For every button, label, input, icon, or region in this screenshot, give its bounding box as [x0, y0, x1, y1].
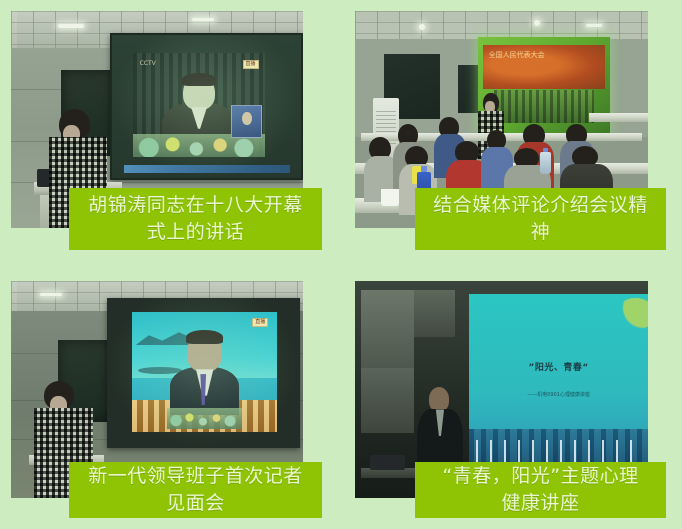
caption-line: 胡锦涛同志在十八大开幕 — [75, 192, 316, 219]
projection-screen: 直播 CCTV — [110, 33, 303, 181]
water-bottle — [540, 152, 552, 174]
channel-logo-icon: CCTV — [140, 61, 156, 67]
tv-backdrop-art — [138, 367, 181, 374]
slide-photo — [494, 90, 594, 122]
cell-top-left: 直播 CCTV — [11, 11, 322, 250]
wall-panel — [361, 290, 414, 368]
ceiling-grid — [355, 11, 648, 39]
caption-line: 式上的讲话 — [75, 219, 316, 246]
ceiling-lamp — [40, 293, 62, 296]
caption-top-left: 胡锦涛同志在十八大开幕 式上的讲话 — [69, 188, 322, 250]
monitor-rear — [370, 455, 405, 470]
leaf-decoration-icon — [616, 298, 648, 331]
caption-bottom-right: “青春，阳光”主题心理 健康讲座 — [415, 462, 666, 518]
caption-line: 见面会 — [75, 490, 316, 517]
tv-signer-inset — [231, 105, 262, 138]
projection-screen: 直播 — [107, 298, 300, 448]
caption-line: 新一代领导班子首次记者 — [75, 463, 316, 490]
ceiling-lamp — [58, 24, 84, 28]
tv-ticker — [124, 165, 290, 172]
caption-line: 结合媒体评论介绍会议精 — [421, 192, 660, 219]
live-badge: 直播 — [243, 60, 259, 69]
caption-top-right: 结合媒体评论介绍会议精 神 — [415, 188, 666, 250]
ceiling-lamp — [192, 18, 214, 21]
slide-subtitle: ——机电0901心理健康讲座 — [469, 391, 648, 398]
slide-text: 全国人民代表大会 — [489, 52, 545, 60]
live-badge: 直播 — [252, 318, 268, 327]
ceiling-lamp — [534, 20, 540, 26]
caption-bottom-left: 新一代领导班子首次记者 见面会 — [69, 462, 322, 518]
cell-bottom-right: ”阳光、青春“ ——机电0901心理健康讲座 “青春，阳光”主题心理 健康讲座 — [355, 281, 666, 518]
projection-screen: ”阳光、青春“ ——机电0901心理健康讲座 — [469, 294, 648, 476]
tv-speaker-hair — [182, 73, 216, 86]
wall-panel — [361, 368, 414, 433]
tv-flower-row — [167, 408, 242, 430]
paper-cup — [381, 189, 399, 206]
slide-title: ”阳光、青春“ — [469, 360, 648, 373]
cell-top-right: 全国人民代表大会 — [355, 11, 666, 250]
tv-picture: 直播 — [132, 312, 277, 432]
caption-line: “青春，阳光”主题心理 — [421, 463, 660, 490]
ceiling-lamp — [586, 24, 602, 27]
wall-panel — [414, 290, 455, 338]
tv-speaker-hair — [186, 330, 224, 344]
caption-line: 神 — [421, 219, 660, 246]
caption-line: 健康讲座 — [421, 490, 660, 517]
tv-picture: 直播 CCTV — [133, 53, 265, 156]
desk-row — [589, 113, 648, 122]
photo-grid-page: 直播 CCTV — [0, 0, 682, 529]
cell-bottom-left: 直播 新一代领导班子首次记者 见面会 — [11, 281, 322, 518]
